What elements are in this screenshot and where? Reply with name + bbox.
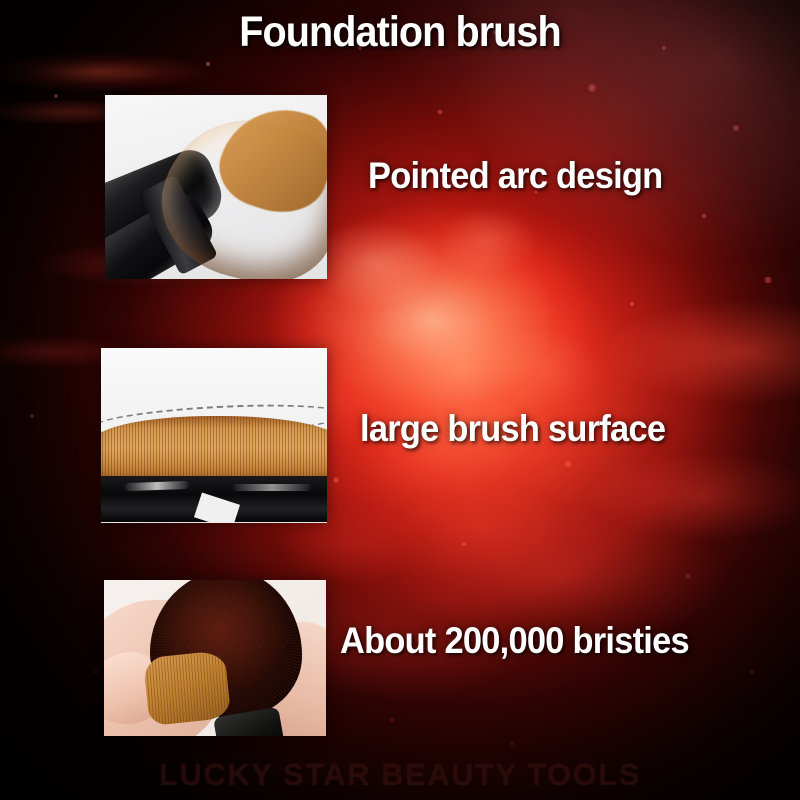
photo-1-backdrop [105,95,327,279]
brush-in-hand-photo [104,580,326,736]
feature-label-pointed-arc-design: Pointed arc design [368,155,662,197]
photo-2-backdrop [101,348,327,523]
product-poster: Foundation brush Pointed arc design larg… [0,0,800,800]
brand-watermark: LUCKY STAR BEAUTY TOOLS [0,756,800,792]
brush-surface-photo [101,348,327,523]
handle-highlight-right [233,484,311,491]
feature-label-large-brush-surface: large brush surface [360,408,665,450]
brush-ferrule-gold [143,650,232,726]
feature-label-about-200000-bristies: About 200,000 bristies [340,620,689,662]
page-title: Foundation brush [32,8,768,57]
photo-3-backdrop [104,580,326,736]
brush-head-angled-photo [105,95,327,279]
